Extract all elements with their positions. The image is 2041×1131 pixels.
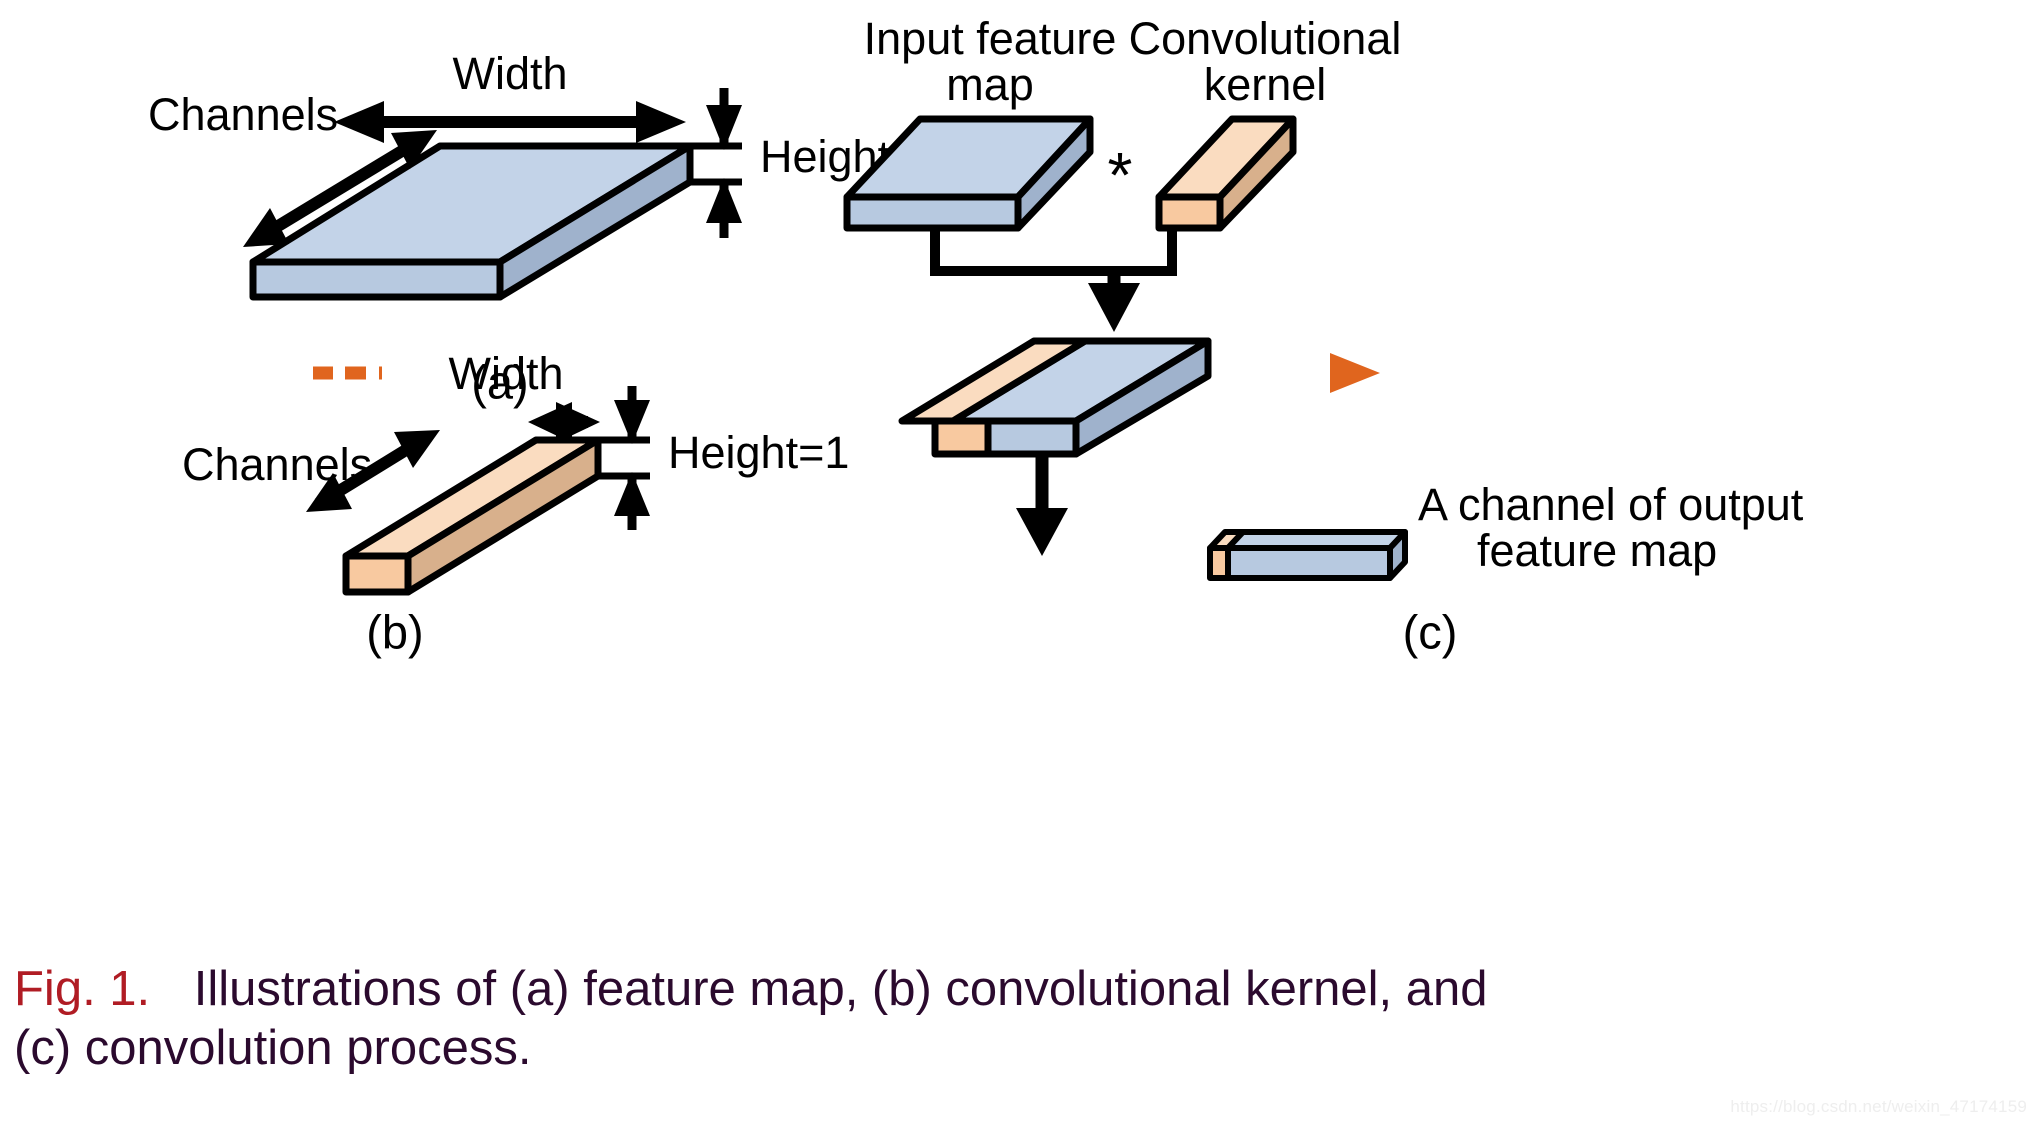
panel-c-output-connector-arrow — [1016, 454, 1068, 556]
panel-c-input-feature-map-label-line2: map — [946, 59, 1034, 110]
panel-b-channels-label: Channels — [182, 439, 372, 490]
panel-b-kernel-front-face — [346, 556, 408, 592]
figure-caption: Fig. 1. Illustrations of (a) feature map… — [14, 960, 2024, 1020]
figure-caption-text: Illustrations of (a) feature map, (b) co… — [194, 962, 1488, 1016]
panel-b-height-label: Height=1 — [668, 427, 849, 478]
panel-b-height-marker — [598, 386, 650, 530]
panel-a-width-arrow — [334, 101, 686, 143]
panel-c-conv-kernel-label-line2: kernel — [1204, 59, 1327, 110]
panel-c-convolution-operator: * — [1108, 139, 1133, 211]
panel-a-channels-label: Channels — [148, 89, 338, 140]
panel-c-conv-kernel-label-line1: Convolutional — [1129, 13, 1402, 64]
source-watermark: https://blog.csdn.net/weixin_47174159 — [1730, 1097, 2027, 1117]
panel-a-height-marker — [690, 88, 742, 238]
panel-c-kernel-front-face — [1159, 197, 1220, 228]
figure-container: Width Channels Height=1 (a) — [0, 0, 2041, 1131]
panel-c-combined-front-face-blue — [988, 421, 1076, 454]
panel-c-letter: (c) — [1403, 605, 1458, 658]
panel-b-group: Width Channels Height=1 (b) — [182, 348, 849, 659]
panel-c-combined-front-face-orange — [935, 421, 988, 454]
panel-c-input-feature-map-label-line1: Input feature — [864, 13, 1117, 64]
panel-b-letter: (b) — [366, 605, 423, 658]
panel-c-output-label-line2: feature map — [1477, 525, 1717, 576]
panel-c-merge-connector — [930, 228, 1177, 332]
panel-c-group: Input feature map Convolutional kernel * — [313, 13, 1804, 659]
panel-b-width-label: Width — [448, 348, 563, 399]
panel-a-feature-map-front-face — [253, 262, 500, 297]
panel-c-input-feature-map-front-face — [847, 197, 1018, 228]
panel-a-width-label: Width — [452, 48, 567, 99]
panel-c-output-label-line1: A channel of output — [1418, 479, 1804, 530]
figure-caption-tag: Fig. 1. — [14, 962, 150, 1016]
panel-c-output-bar-front — [1228, 548, 1390, 578]
figure-caption-line-2: (c) convolution process. — [14, 1020, 531, 1076]
